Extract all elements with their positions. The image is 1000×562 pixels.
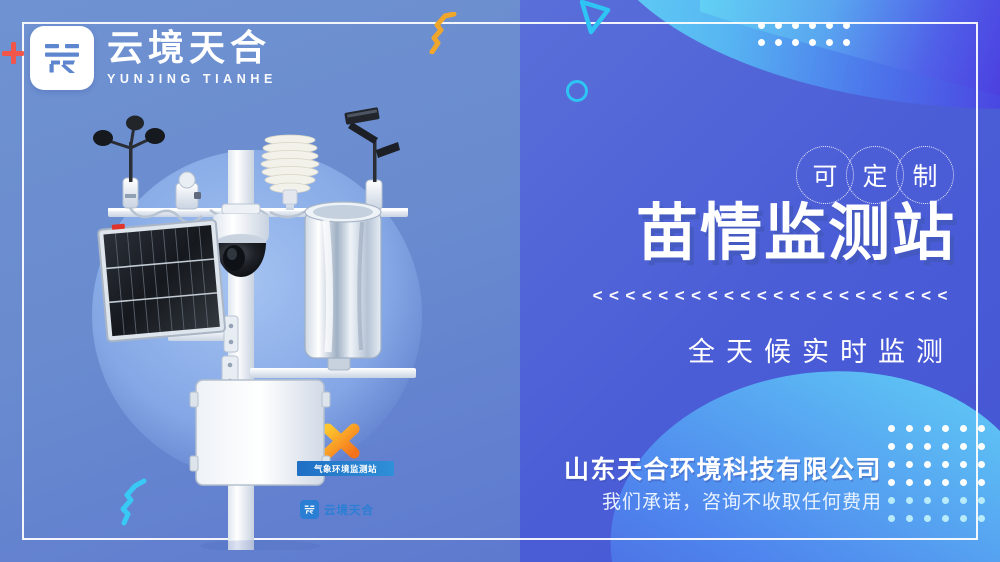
product-image-weather-station: 气象环境监测站 云境天合 bbox=[90, 80, 440, 550]
product-brand-name: 云境天合 bbox=[324, 502, 374, 518]
logo-chinese-name: 云境天合 bbox=[107, 30, 277, 68]
product-brand-lockup: 云境天合 bbox=[300, 500, 374, 519]
company-name: 山东天合环境科技有限公司 bbox=[564, 450, 882, 486]
product-label-banner: 气象环境监测站 bbox=[297, 461, 394, 476]
tianhe-mark-icon bbox=[30, 26, 94, 90]
dot-grid-bottom-icon bbox=[888, 425, 985, 522]
sub-headline: 全天候实时监测 bbox=[688, 330, 954, 369]
dot-grid-top-icon bbox=[758, 22, 850, 46]
promo-banner: 云境天合 YUNJING TIANHE bbox=[0, 0, 1000, 562]
product-brand-mark-icon bbox=[300, 500, 319, 519]
headline-title: 苗情监测站 bbox=[636, 202, 956, 264]
promise-text: 我们承诺，咨询不收取任何费用 bbox=[602, 487, 882, 514]
chevron-divider: <<<<<<<<<<<<<<<<<<<<<< bbox=[593, 286, 954, 306]
